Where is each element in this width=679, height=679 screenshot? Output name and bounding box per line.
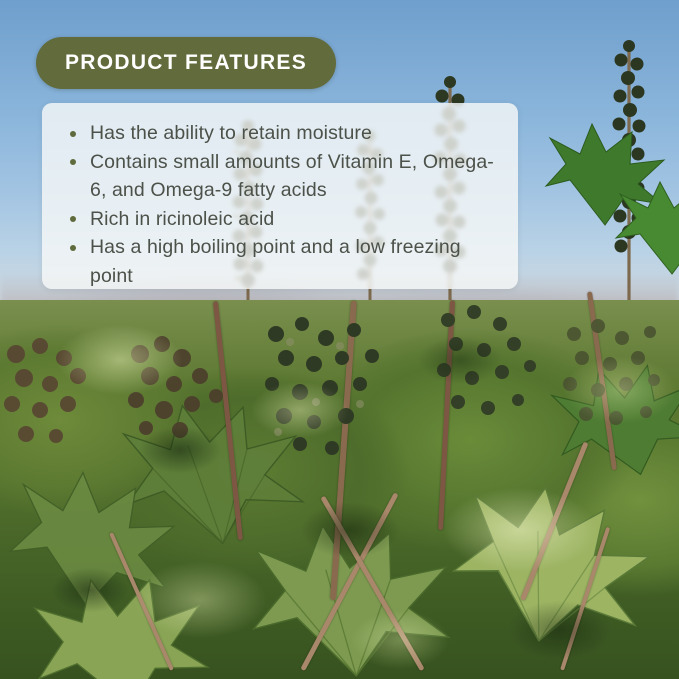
castor-leaf bbox=[612, 178, 679, 278]
product-features-badge: PRODUCT FEATURES bbox=[36, 37, 336, 89]
list-item: Has the ability to retain moisture bbox=[64, 119, 504, 148]
badge-label: PRODUCT FEATURES bbox=[65, 51, 307, 75]
foliage-shadows bbox=[0, 300, 679, 679]
product-feature-image: Has the ability to retain moisture Conta… bbox=[0, 0, 679, 679]
list-item: Has a high boiling point and a low freez… bbox=[64, 233, 504, 290]
list-item: Rich in ricinoleic acid bbox=[64, 205, 504, 234]
list-item: Contains small amounts of Vitamin E, Ome… bbox=[64, 148, 504, 205]
feature-list: Has the ability to retain moisture Conta… bbox=[64, 119, 504, 290]
features-panel: Has the ability to retain moisture Conta… bbox=[42, 103, 518, 289]
